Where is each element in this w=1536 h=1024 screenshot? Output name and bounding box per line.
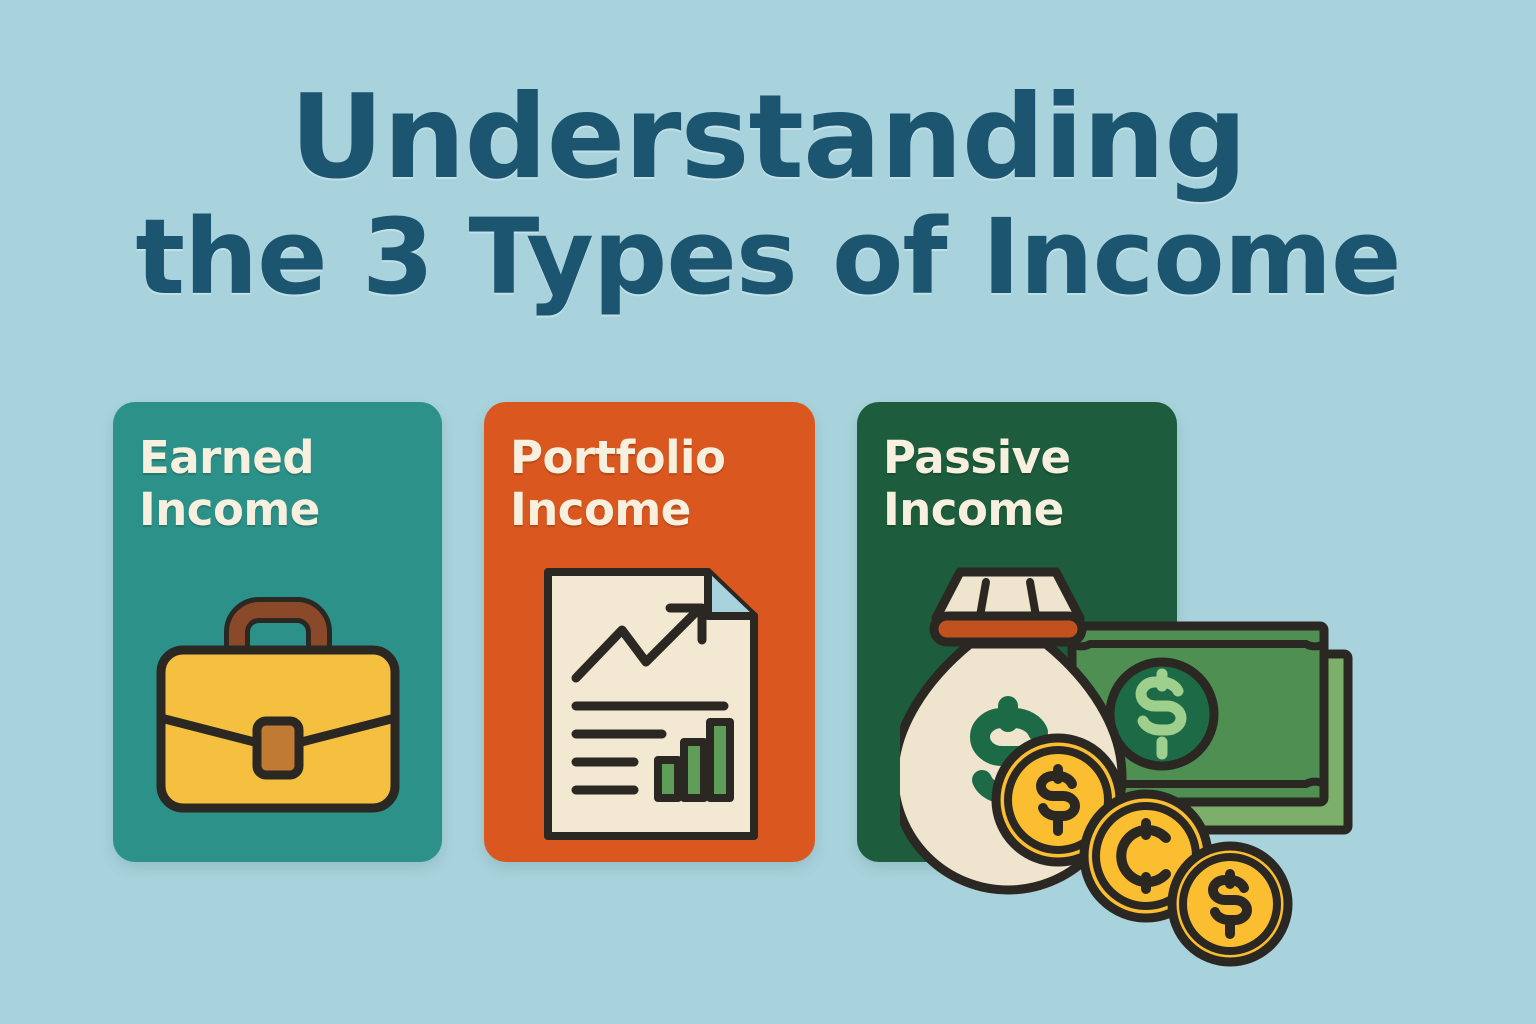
title-line-2: the 3 Types of Income: [0, 203, 1536, 311]
card-earned-income-label: Earned Income: [113, 432, 442, 536]
title-line-1: Understanding: [0, 78, 1536, 199]
page-title: Understanding the 3 Types of Income: [0, 78, 1536, 311]
card-earned-income-label-line2: Income: [139, 484, 416, 536]
income-type-card-row: Earned Income: [0, 402, 1536, 872]
document-chart-icon: [540, 564, 762, 844]
card-passive-income-label-line2: Income: [883, 484, 1151, 536]
card-portfolio-income-label: Portfolio Income: [484, 432, 815, 536]
infographic-canvas: Understanding the 3 Types of Income Earn…: [0, 0, 1536, 1024]
card-portfolio-income[interactable]: Portfolio Income: [484, 402, 815, 862]
card-passive-income[interactable]: Passive Income: [857, 402, 1177, 862]
card-earned-income[interactable]: Earned Income: [113, 402, 442, 862]
card-passive-income-label-line1: Passive: [883, 431, 1071, 484]
card-earned-income-label-line1: Earned: [139, 431, 314, 484]
card-portfolio-income-label-line2: Income: [510, 484, 789, 536]
briefcase-icon: [149, 588, 407, 820]
card-passive-income-label: Passive Income: [857, 432, 1177, 536]
card-portfolio-income-label-line1: Portfolio: [510, 431, 725, 484]
